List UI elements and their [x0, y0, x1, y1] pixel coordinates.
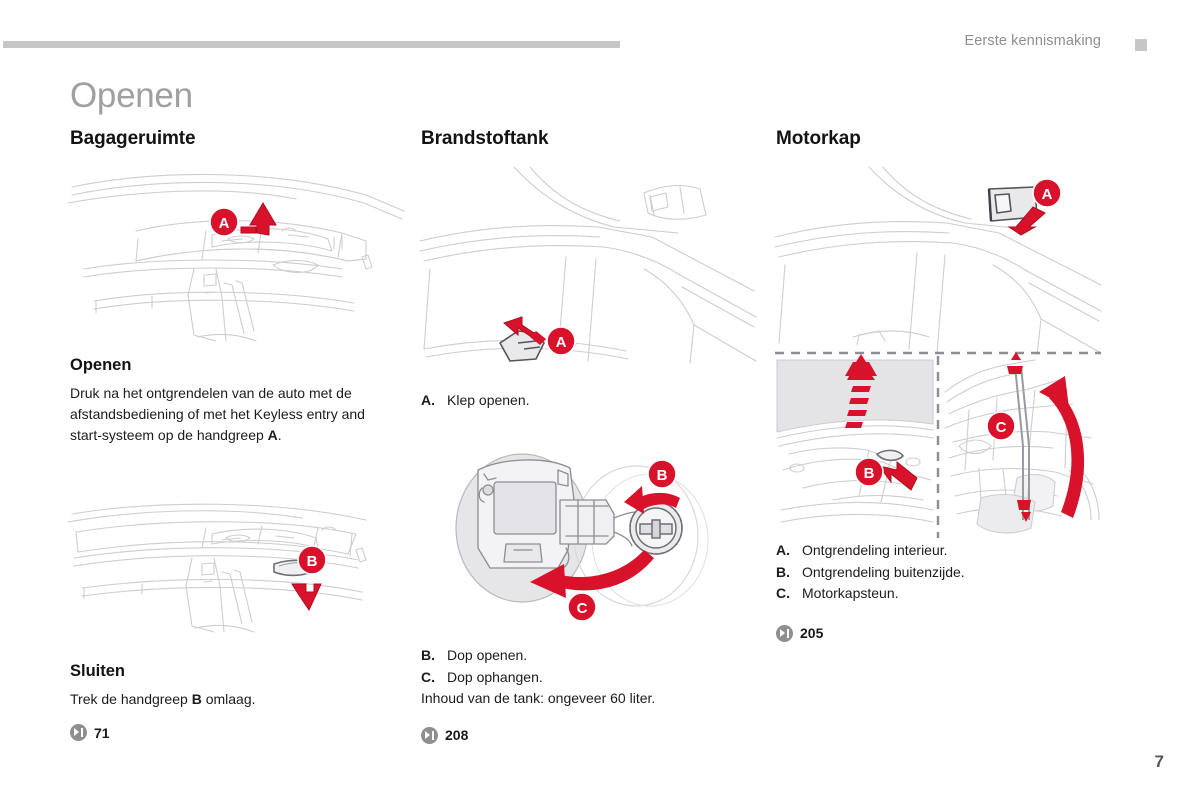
legend-list-hood: A. Ontgrendeling interieur. B. Ontgrende…	[776, 540, 1106, 605]
legend-value: Klep openen.	[447, 390, 751, 412]
section-heading-brandstoftank: Brandstoftank	[421, 128, 751, 150]
legend-key: A.	[776, 540, 802, 562]
legend-item: C. Dop ophangen.	[421, 667, 751, 689]
column-brandstoftank-legend-top: A. Klep openen.	[421, 390, 751, 412]
legend-item: B. Ontgrendeling buitenzijde.	[776, 562, 1106, 584]
legend-item: B. Dop openen.	[421, 645, 751, 667]
page-ref-number: 205	[800, 625, 823, 641]
page-ref-number: 71	[94, 725, 110, 741]
callout-badge-B: B	[298, 546, 326, 574]
callout-badge-A: A	[210, 208, 238, 236]
legend-key: B.	[776, 562, 802, 584]
subheading-sluiten: Sluiten	[70, 662, 400, 681]
subheading-openen: Openen	[70, 356, 400, 375]
legend-key: A.	[421, 390, 447, 412]
figure-trunk-release-interior: A	[66, 165, 406, 345]
legend-item: A. Ontgrendeling interieur.	[776, 540, 1106, 562]
svg-text:A: A	[219, 215, 230, 232]
column-bagageruimte-text-2: Sluiten Trek de handgreep B omlaag. 71	[70, 662, 400, 741]
legend-value: Ontgrendeling interieur.	[802, 540, 1106, 562]
svg-text:B: B	[307, 553, 318, 570]
legend-key: C.	[421, 667, 447, 689]
column-brandstoftank-legend-bottom: B. Dop openen. C. Dop ophangen. Inhoud v…	[421, 645, 751, 744]
callout-badge-B: B	[648, 460, 676, 488]
callout-badge-C: C	[987, 412, 1015, 440]
fuel-tank-capacity-note: Inhoud van de tank: ongeveer 60 liter.	[421, 688, 751, 710]
legend-key: C.	[776, 583, 802, 605]
svg-text:A: A	[556, 334, 567, 351]
svg-text:C: C	[577, 600, 588, 617]
svg-text:C: C	[996, 419, 1007, 436]
svg-text:B: B	[864, 465, 875, 482]
legend-item: C. Motorkapsteun.	[776, 583, 1106, 605]
section-heading-motorkap: Motorkap	[776, 128, 1106, 150]
page-reference-bagageruimte[interactable]: 71	[70, 724, 400, 741]
page-ref-icon	[70, 724, 87, 741]
figure-fuel-cap-detail: B C	[418, 440, 758, 632]
page-title: Openen	[70, 76, 193, 116]
callout-badge-C: C	[568, 593, 596, 621]
legend-value: Dop ophangen.	[447, 667, 751, 689]
svg-text:B: B	[657, 467, 668, 484]
page-ref-icon	[421, 727, 438, 744]
legend-list-fuel-top: A. Klep openen.	[421, 390, 751, 412]
section-heading-bagageruimte: Bagageruimte	[70, 128, 400, 150]
callout-badge-A: A	[547, 327, 575, 355]
paragraph-sluiten: Trek de handgreep B omlaag.	[70, 689, 400, 710]
header-rule	[3, 41, 620, 48]
page-number: 7	[1155, 752, 1164, 772]
callout-badge-B: B	[855, 458, 883, 486]
legend-value: Motorkapsteun.	[802, 583, 1106, 605]
figure-trunk-handle-close: B	[66, 498, 406, 658]
manual-page: Eerste kennismaking Openen Bagageruimte	[0, 0, 1191, 794]
legend-item: A. Klep openen.	[421, 390, 751, 412]
figure-hood-exterior-release: A	[773, 165, 1103, 355]
figure-fuel-flap-release: A	[418, 165, 758, 365]
legend-key: B.	[421, 645, 447, 667]
legend-value: Dop openen.	[447, 645, 751, 667]
page-ref-number: 208	[445, 727, 468, 743]
legend-list-fuel-bottom: B. Dop openen. C. Dop ophangen.	[421, 645, 751, 688]
callout-badge-A: A	[1033, 179, 1061, 207]
figure-hood-catch-and-support: B	[773, 350, 1103, 540]
page-reference-motorkap[interactable]: 205	[776, 625, 1106, 642]
legend-value: Ontgrendeling buitenzijde.	[802, 562, 1106, 584]
column-bagageruimte-text-1: Openen Druk na het ontgrendelen van de a…	[70, 356, 400, 446]
page-reference-brandstoftank[interactable]: 208	[421, 727, 751, 744]
running-title: Eerste kennismaking	[965, 33, 1102, 49]
page-ref-icon	[776, 625, 793, 642]
svg-text:A: A	[1042, 186, 1053, 203]
column-motorkap-legend: A. Ontgrendeling interieur. B. Ontgrende…	[776, 540, 1106, 642]
paragraph-openen: Druk na het ontgrendelen van de auto met…	[70, 383, 400, 446]
square-marker-icon	[1135, 39, 1147, 51]
